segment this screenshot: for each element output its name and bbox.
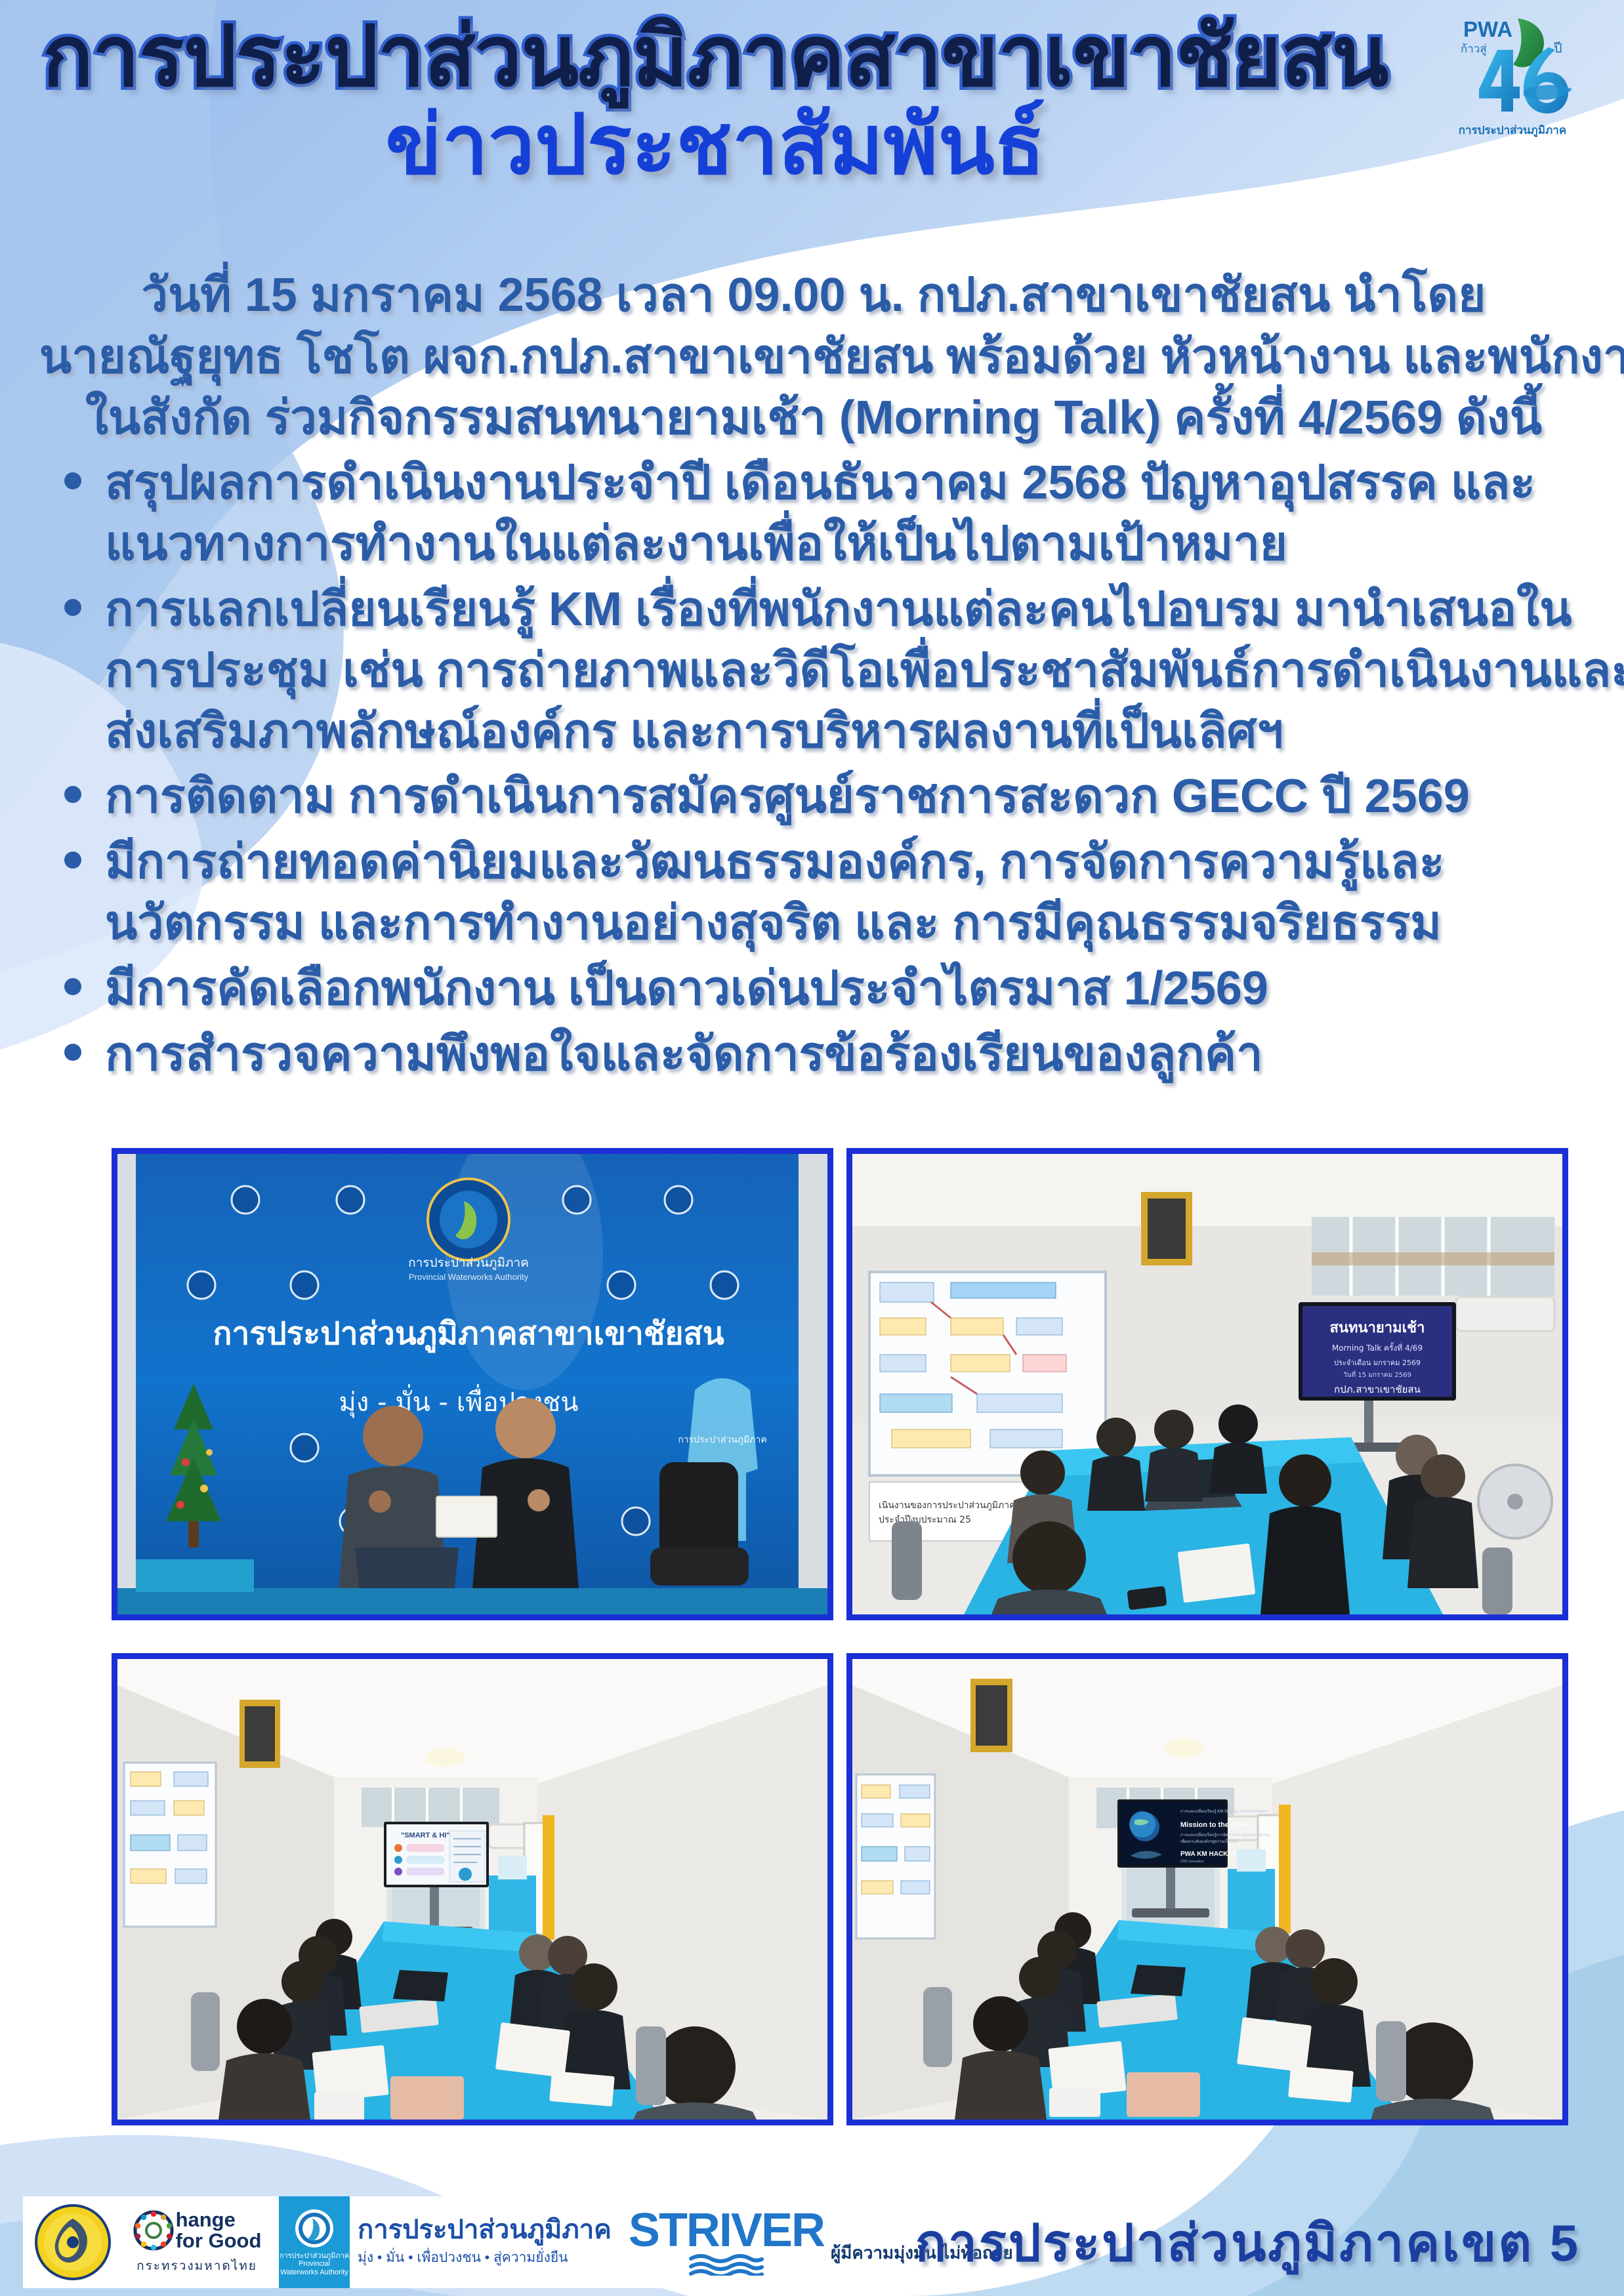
footer-logo-strip: hange for Good กระทรวงมหาดไทย การประปาส่… [23,2196,896,2288]
svg-text:ประจำปีงบประมาณ 25: ประจำปีงบประมาณ 25 [879,1515,971,1525]
bullet-line: แนวทางการทำงานในแต่ละงานเพื่อให้เป็นไปตา… [105,514,1601,575]
pwa-name-label: การประปาส่วนภูมิภาค [358,2216,612,2244]
screen-title: "SMART & HI" [401,1832,450,1839]
svg-text:ปี: ปี [1554,40,1562,56]
water-waves-icon [687,2253,766,2276]
photo-meeting-smart-slide: "SMART & HI" [112,1653,833,2125]
photo-grid: การประปาส่วนภูมิภาค Provincial Waterwork… [112,1148,1581,2125]
moi-seal-icon [33,2203,112,2282]
ministry-of-interior-seal-slot [23,2196,112,2288]
title-block: การประปาส่วนภูมิภาคสาขาเขาชัยสน ข่าวประช… [0,14,1430,187]
list-item: สรุปผลการดำเนินงานประจำปี เดือนธันวาคม 2… [39,453,1601,575]
intro-line: นายณัฐยุทธ โชโต ผจก.กปภ.สาขาเขาชัยสน พร้… [39,327,1588,388]
backdrop-title: การประปาส่วนภูมิภาคสาขาเขาชัยสน [213,1315,724,1353]
photo-meeting-km-hackathon: การแลกเปลี่ยนเรียนรู้ KM Strategy Implem… [846,1653,1568,2125]
svg-text:2025 Innovation: 2025 Innovation [1180,1860,1204,1864]
backdrop-logo-text: การประปาส่วนภูมิภาค [408,1256,529,1270]
pwa-46th-anniversary-logo: PWA ก้าวสู่ ปี การประปาส่วนภูมิภาค [1450,12,1575,143]
svg-text:Provincial Waterworks Authorit: Provincial Waterworks Authority [409,1272,529,1282]
poster-header: การประปาส่วนภูมิภาคสาขาเขาชัยสน ข่าวประช… [0,0,1624,262]
svg-text:การแลกเปลี่ยนเรียนรู้การจัดการ: การแลกเปลี่ยนเรียนรู้การจัดการความรู้และ… [1180,1832,1270,1837]
intro-paragraph: วันที่ 15 มกราคม 2568 เวลา 09.00 น. กปภ.… [39,265,1588,449]
list-item: การแลกเปลี่ยนเรียนรู้ KM เรื่องที่พนักงา… [39,579,1601,762]
change-for-good-logo: hange for Good กระทรวงมหาดไทย [121,2209,272,2276]
svg-text:ประจำเดือน มกราคม 2569: ประจำเดือน มกราคม 2569 [1334,1359,1421,1367]
photo-meeting-screen-morning-talk: เนินงานของการประปาส่วนภูมิภาคสาขาเขาชัยส… [846,1148,1568,1620]
ministry-name-label: กระทรวงมหาดไทย [121,2256,272,2276]
bullet-line: มีการคัดเลือกพนักงาน เป็นดาวเด่นประจำไตร… [105,958,1601,1019]
poster-root: การประปาส่วนภูมิภาคสาขาเขาชัยสน ข่าวประช… [0,0,1624,2296]
pwa-box-caption-th: การประปาส่วนภูมิภาค [279,2252,350,2260]
list-item: มีการถ่ายทอดค่านิยมและวัฒนธรรมองค์กร, กา… [39,832,1601,954]
svg-text:การแลกเปลี่ยนเรียนรู้ KM Strat: การแลกเปลี่ยนเรียนรู้ KM Strategy Implem… [1180,1809,1267,1814]
striver-wordmark: STRIVER [629,2209,824,2252]
poster-footer: hange for Good กระทรวงมหาดไทย การประปาส่… [0,2184,1624,2296]
intro-line: ในสังกัด ร่วมกิจกรรมสนทนายามเช้า (Mornin… [39,388,1588,449]
photo-award-presentation: การประปาส่วนภูมิภาค Provincial Waterwork… [112,1148,833,1620]
bullet-dot-icon [64,851,81,869]
svg-text:Morning Talk ครั้งที่ 4/69: Morning Talk ครั้งที่ 4/69 [1332,1342,1423,1353]
bullet-dot-icon [64,472,81,489]
change-for-good-line2: for Good [176,2230,262,2251]
screen-title: Mission to the moon [1180,1821,1251,1829]
pwa-name-block: การประปาส่วนภูมิภาค มุ่ง • มั่น • เพื่อป… [358,2216,612,2268]
agenda-bullet-list: สรุปผลการดำเนินงานประจำปี เดือนธันวาคม 2… [39,453,1601,1090]
bullet-dot-icon [64,599,81,616]
region-label-block: การประปาส่วนภูมิภาคเขต 5 [915,2200,1604,2286]
change-for-good-line1: hange [176,2209,262,2230]
svg-text:การประปาส่วนภูมิภาค: การประปาส่วนภูมิภาค [1459,124,1566,138]
svg-text:กปภ.สาขาเขาชัยสน: กปภ.สาขาเขาชัยสน [1334,1384,1421,1395]
screen-title: สนทนายามเช้า [1330,1320,1425,1336]
bullet-line: การประชุม เช่น การถ่ายภาพและวิดีโอเพื่อป… [105,640,1601,701]
intro-line: วันที่ 15 มกราคม 2568 เวลา 09.00 น. กปภ.… [39,265,1588,327]
sdg-wheel-icon [133,2209,175,2251]
region-label: การประปาส่วนภูมิภาคเขต 5 [915,2202,1580,2284]
bullet-line: นวัตกรรม และการทำงานอย่างสุจริต และ การม… [105,893,1601,954]
bullet-line: การติดตาม การดำเนินการสมัครศูนย์ราชการสะ… [105,766,1601,827]
svg-text:ก้าวสู่: ก้าวสู่ [1461,43,1487,56]
list-item: การสำรวจความพึงพอใจและจัดการข้อร้องเรียน… [39,1024,1601,1085]
bullet-dot-icon [64,786,81,803]
pwa-seal-box: การประปาส่วนภูมิภาค Provincial Waterwork… [279,2196,350,2288]
bullet-dot-icon [64,1044,81,1061]
pwa-box-caption-en: Provincial Waterworks Authority [279,2260,350,2276]
bullet-line: สรุปผลการดำเนินงานประจำปี เดือนธันวาคม 2… [105,453,1601,514]
list-item: การติดตาม การดำเนินการสมัครศูนย์ราชการสะ… [39,766,1601,827]
bullet-dot-icon [64,978,81,995]
bullet-line: มีการถ่ายทอดค่านิยมและวัฒนธรรมองค์กร, กา… [105,832,1601,893]
pwa-seal-icon [294,2208,335,2249]
bullet-line: ส่งเสริมภาพลักษณ์องค์กร และการบริหารผลงา… [105,701,1601,762]
svg-text:PWA: PWA [1463,17,1512,41]
svg-text:การประปาส่วนภูมิภาค: การประปาส่วนภูมิภาค [678,1435,766,1445]
page-title-line1: การประปาส่วนภูมิภาคสาขาเขาชัยสน [0,14,1430,100]
list-item: มีการคัดเลือกพนักงาน เป็นดาวเด่นประจำไตร… [39,958,1601,1019]
bullet-line: การสำรวจความพึงพอใจและจัดการข้อร้องเรียน… [105,1024,1601,1085]
bullet-line: การแลกเปลี่ยนเรียนรู้ KM เรื่องที่พนักงา… [105,579,1601,640]
page-title-line2: ข่าวประชาสัมพันธ์ [0,103,1430,188]
svg-text:วันที่ 15 มกราคม 2569: วันที่ 15 มกราคม 2569 [1343,1370,1411,1379]
pwa-slogan-label: มุ่ง • มั่น • เพื่อปวงชน • สู่ความยั่งยื… [358,2247,612,2268]
